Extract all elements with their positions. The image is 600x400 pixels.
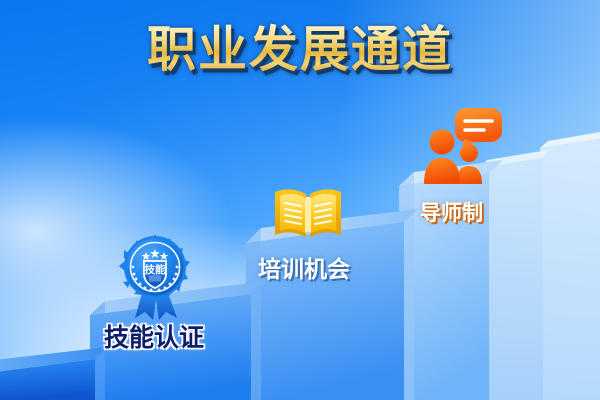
badge-inner-text: 技能 bbox=[145, 263, 166, 276]
page-title: 职业发展通道 bbox=[0, 22, 600, 78]
mentor-people-chat-icon bbox=[422, 106, 504, 184]
skill-badge-icon: 技能 bbox=[115, 234, 195, 320]
step-4-label: 导师制 bbox=[420, 197, 483, 227]
career-path-infographic: 职业发展通道 bbox=[0, 0, 600, 400]
open-book-icon bbox=[272, 183, 344, 243]
step-3-label: 培训机会 bbox=[258, 250, 350, 284]
step-2-label: 技能认证 bbox=[104, 318, 204, 354]
